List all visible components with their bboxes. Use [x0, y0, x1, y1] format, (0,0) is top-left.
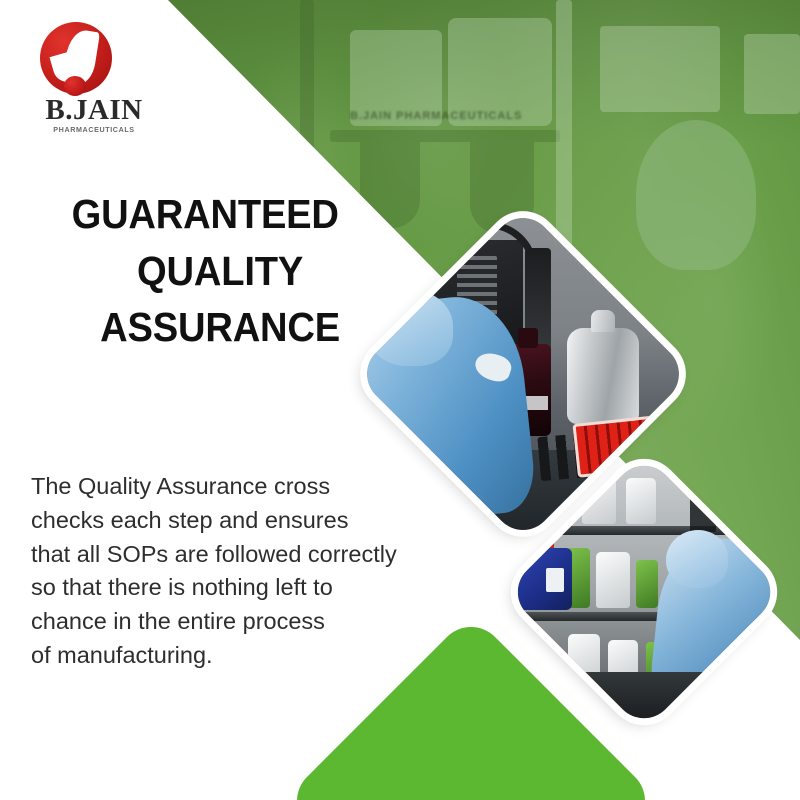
body-line: so that there is nothing left to [31, 571, 431, 605]
bg-column [556, 0, 572, 260]
brand-logo[interactable]: B.JAIN PHARMACEUTICALS [30, 22, 158, 134]
body-line: The Quality Assurance cross [31, 470, 431, 504]
jug-b [626, 478, 656, 524]
jug-c [596, 552, 630, 608]
body-line: checks each step and ensures [31, 504, 431, 538]
bg-post [300, 0, 314, 150]
body-line: of manufacturing. [31, 639, 431, 673]
logo-wordmark: B.JAIN [30, 96, 158, 125]
machine-label: B.JAIN PHARMACEUTICALS [350, 110, 522, 122]
page-title: GUARANTEED QUALITY ASSURANCE [22, 186, 422, 356]
headline-line-1: GUARANTEED [22, 186, 422, 243]
bjain-flame-logo-icon [40, 22, 112, 94]
logo-dot [64, 76, 86, 96]
bottle-green-b [636, 560, 658, 608]
diamond-photo-inner [546, 494, 742, 690]
poster-canvas: B.JAIN PHARMACEUTICALS B.JAIN PHARMACEUT… [0, 0, 800, 800]
bg-window-2 [744, 34, 800, 114]
worker-hood [666, 530, 728, 588]
silver-canister [567, 328, 639, 424]
bg-rail [330, 130, 560, 142]
bg-worker-silhouette [636, 120, 756, 270]
body-line: chance in the entire process [31, 605, 431, 639]
bg-window [600, 26, 720, 112]
body-line: that all SOPs are followed correctly [31, 538, 431, 572]
headline-line-2: QUALITY ASSURANCE [22, 243, 422, 356]
diamond-photo-inner [404, 255, 642, 493]
body-paragraph: The Quality Assurance cross checks each … [31, 470, 431, 673]
logo-tagline: PHARMACEUTICALS [29, 127, 160, 134]
